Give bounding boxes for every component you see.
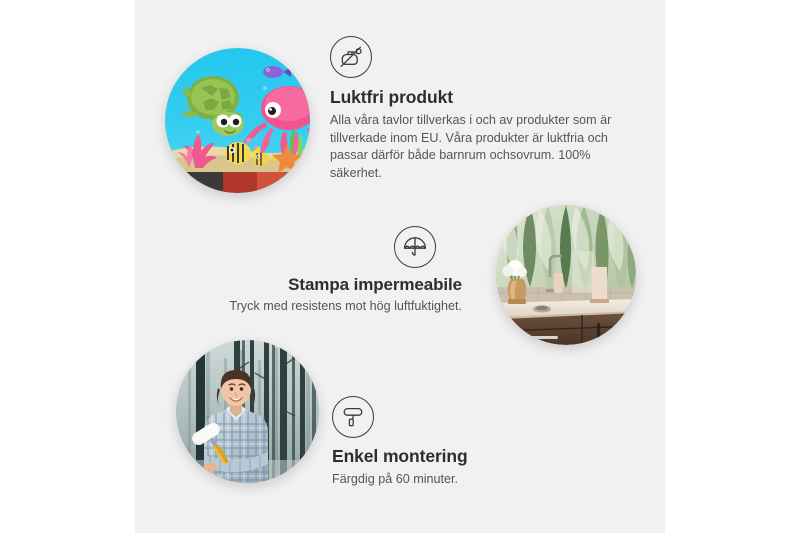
feature-body: Alla våra tavlor tillverkas i och av pro…: [330, 112, 630, 182]
feature-waterproof: Stampa impermeabile Tryck med resistens …: [162, 226, 462, 316]
feature-title: Luktfri produkt: [330, 87, 630, 108]
infographic-page: Luktfri produkt Alla våra tavlor tillver…: [0, 0, 800, 533]
painter-woman-photo: [176, 340, 319, 483]
feature-easy-assembly: Enkel montering Färgdig på 60 minuter.: [332, 396, 622, 489]
bathroom-interior-photo: [496, 205, 636, 345]
feature-title: Enkel montering: [332, 446, 622, 467]
feature-body: Färgdig på 60 minuter.: [332, 471, 622, 489]
feature-title: Stampa impermeabile: [162, 275, 462, 295]
feature-body: Tryck med resistens mot hög luftfuktighe…: [162, 298, 462, 316]
no-fragrance-icon: [330, 36, 372, 78]
feature-odour-free: Luktfri produkt Alla våra tavlor tillver…: [330, 36, 630, 182]
underwater-scene-photo: [165, 48, 310, 193]
paint-roller-icon: [332, 396, 374, 438]
umbrella-icon: [394, 226, 436, 268]
